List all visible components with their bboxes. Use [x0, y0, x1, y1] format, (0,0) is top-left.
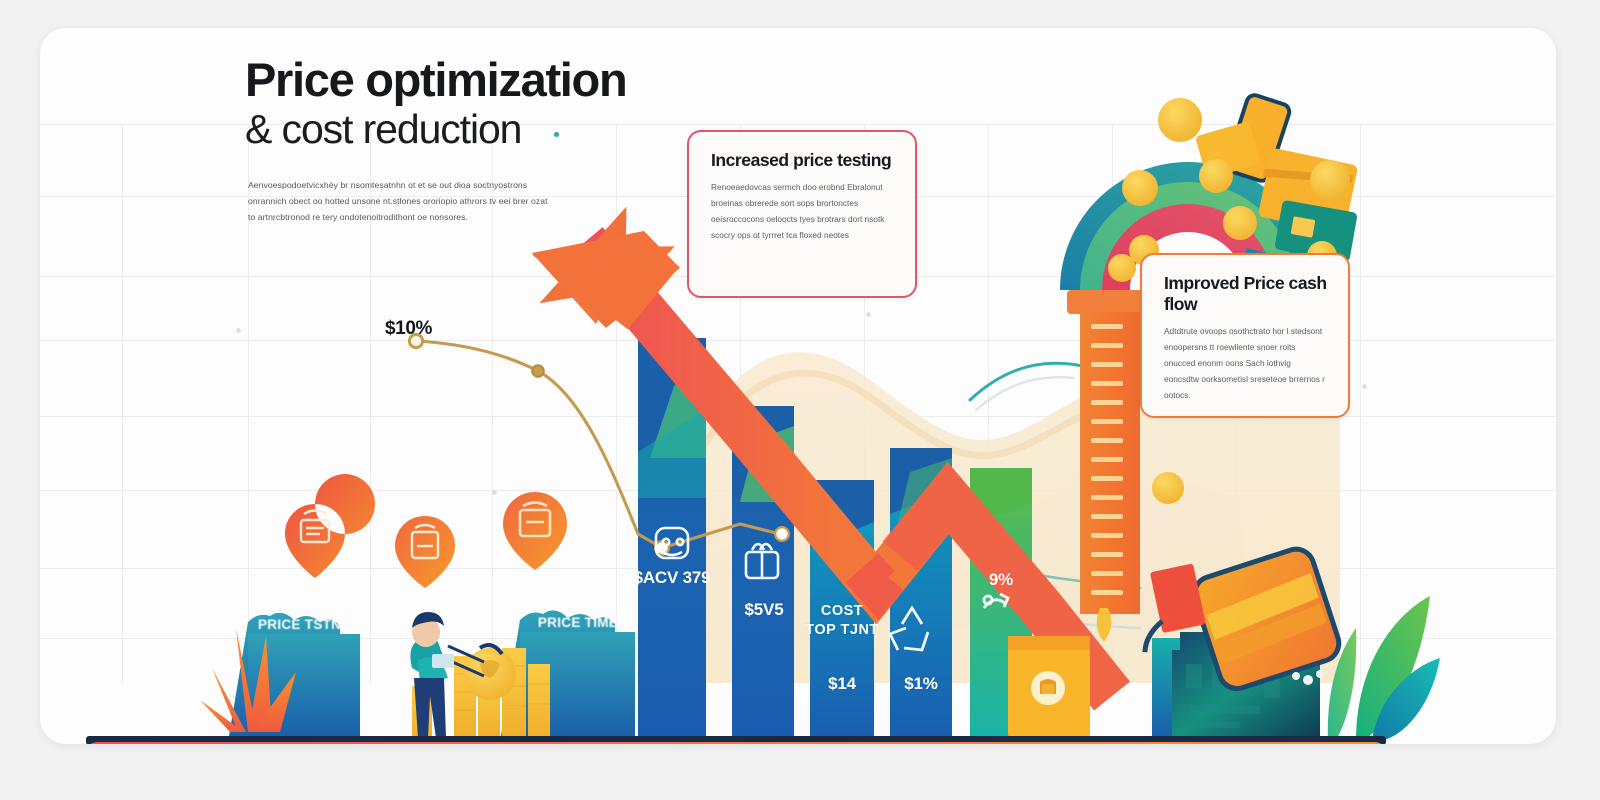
pin-price-tag-1[interactable] [285, 474, 375, 578]
callout-improved-price-cash-flow: Improved Price cash flow Adtdtrute ovoop… [1140, 253, 1350, 418]
callout-1-title: Increased price testing [711, 150, 895, 171]
callout-increased-price-testing: Increased price testing Renoeaedovcas se… [687, 130, 917, 298]
icon-gift-box [746, 544, 778, 578]
icon-piggy-bank [656, 528, 688, 558]
pin-price-tag-3[interactable] [503, 492, 567, 570]
callout-2-body: Adtdtrute ovoops osothctrato hor l steds… [1164, 324, 1328, 404]
callout-1-body: Renoeaedovcas sermch doo erobnd Ebralonu… [711, 180, 895, 244]
intro-paragraph: Aenvoespodoetvicxhéy br nsomtesatnhn ot … [248, 178, 548, 226]
title-line-1: Price optimization [245, 56, 765, 105]
callout-2-title: Improved Price cash flow [1164, 273, 1328, 315]
illustration-card: Price optimization & cost reduction Aenv… [40, 28, 1556, 744]
icon-recycle [890, 608, 928, 650]
pin-price-tag-2[interactable] [395, 516, 455, 588]
illustration-stage: Price optimization & cost reduction Aenv… [0, 0, 1600, 800]
icon-growth-arrow [984, 594, 1008, 608]
